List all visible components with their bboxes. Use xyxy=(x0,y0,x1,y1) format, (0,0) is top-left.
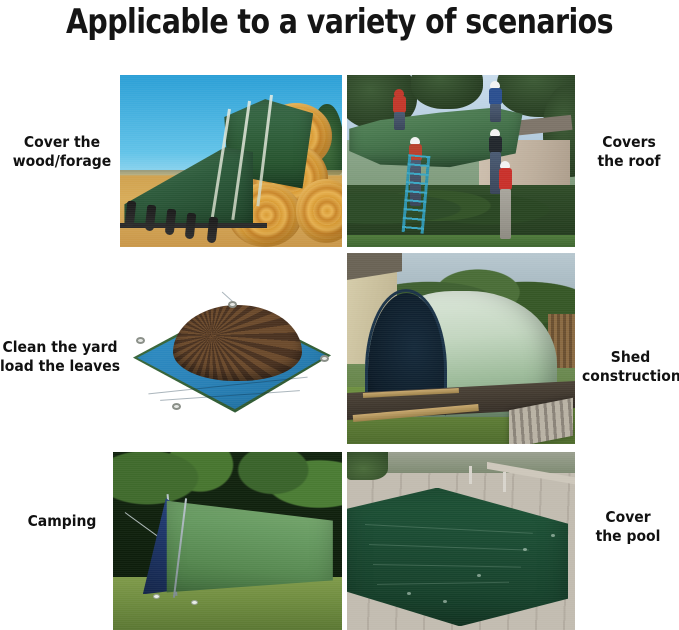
scenario-image-cover-the-pool xyxy=(347,452,575,630)
decor-water-drop xyxy=(477,574,481,577)
decor-lawn xyxy=(347,235,575,247)
decor-grommet xyxy=(320,355,329,362)
decor-tent-peg xyxy=(153,594,160,599)
scenario-image-camping xyxy=(113,452,342,630)
decor-water-drop xyxy=(443,600,447,603)
scenario-label-clean-yard: Clean the yard load the leaves xyxy=(0,338,120,376)
scenario-label-cover-wood-forage: Cover the wood/forage xyxy=(8,133,116,171)
decor-worker-legs xyxy=(394,112,405,130)
decor-rail-post xyxy=(469,466,472,484)
decor-worker-legs xyxy=(500,189,511,239)
decor-bush xyxy=(347,452,388,480)
decor-water-drop xyxy=(551,534,555,537)
decor-worker-torso xyxy=(393,96,406,113)
decor-worker-torso xyxy=(489,88,502,105)
scenario-image-shed-construction xyxy=(347,253,575,444)
decor-water-drop xyxy=(523,548,527,551)
decor-hard-hat xyxy=(410,137,420,144)
decor-hard-hat xyxy=(500,161,510,168)
decor-tent-peg xyxy=(191,600,198,605)
decor-worker-legs xyxy=(490,104,501,122)
decor-hard-hat xyxy=(394,89,404,96)
decor-grommet xyxy=(136,337,145,344)
decor-leaf-pile xyxy=(173,305,302,381)
page-title: Applicable to a variety of scenarios xyxy=(24,2,655,42)
scenario-label-shed-construction: Shed construction xyxy=(582,348,679,386)
decor-rail-post xyxy=(503,472,506,492)
decor-hard-hat xyxy=(490,129,500,136)
decor-worker-torso xyxy=(499,168,512,190)
scenario-infographic: Applicable to a variety of scenarios Cov… xyxy=(0,0,679,630)
decor-grommet xyxy=(228,301,237,308)
decor-grommet xyxy=(172,403,181,410)
scenario-label-covers-roof: Covers the roof xyxy=(582,133,676,171)
scenario-label-camping: Camping xyxy=(12,512,112,531)
decor-hard-hat xyxy=(490,81,500,88)
decor-water-drop xyxy=(407,592,411,595)
scenario-image-covers-roof xyxy=(347,75,575,247)
scenario-label-cover-the-pool: Cover the pool xyxy=(582,508,674,546)
decor-worker-torso xyxy=(489,136,502,153)
scenario-image-clean-yard xyxy=(120,253,342,444)
scenario-image-cover-wood-forage xyxy=(120,75,342,247)
